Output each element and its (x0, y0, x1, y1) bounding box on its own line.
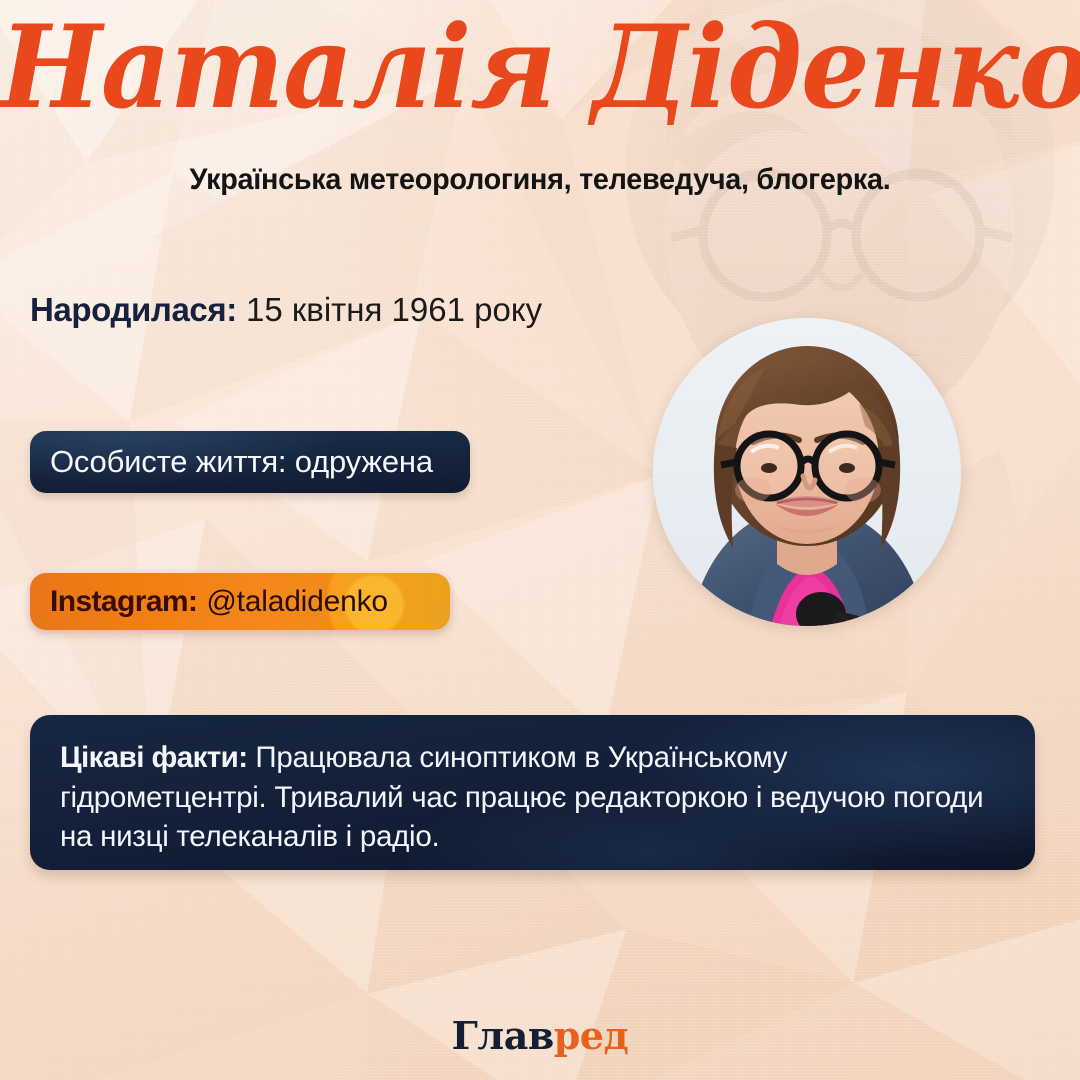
birth-date-line: Народилася: 15 квітня 1961 року (30, 291, 542, 329)
glavred-logo[interactable]: Главред (0, 1013, 1080, 1058)
instagram-handle: @taladidenko (206, 585, 388, 619)
logo-part-red: ред (554, 1013, 629, 1058)
instagram-label: Instagram: (50, 585, 197, 619)
birth-date-label: Народилася: (30, 291, 237, 328)
interesting-facts-box: Цікаві факти: Працювала синоптиком в Укр… (30, 715, 1035, 870)
logo-part-glav: Глав (452, 1013, 554, 1058)
interesting-facts-label: Цікаві факти: (60, 741, 247, 774)
page-title: Наталія Діденко (0, 7, 1080, 131)
page-subtitle: Українська метеорологиня, телеведуча, бл… (22, 163, 1059, 197)
birth-date-value: 15 квітня 1961 року (246, 291, 542, 328)
instagram-badge[interactable]: Instagram: @taladidenko (30, 573, 450, 630)
infographic-poster: Наталія Діденко Українська метеорологиня… (0, 0, 1080, 1080)
personal-life-badge: Особисте життя: одружена (30, 431, 470, 493)
portrait-photo (653, 318, 961, 626)
interesting-facts-text: Цікаві факти: Працювала синоптиком в Укр… (60, 738, 991, 857)
personal-life-text: Особисте життя: одружена (50, 444, 433, 480)
